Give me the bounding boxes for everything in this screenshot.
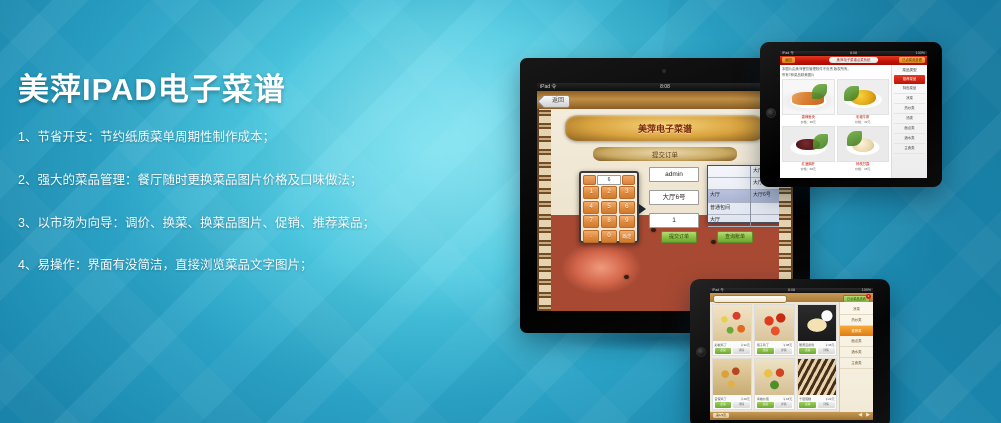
sidebar-item-recommended[interactable]: 推荐菜品 <box>894 75 925 84</box>
keypad-key-dot[interactable]: . <box>583 230 599 243</box>
keypad-key-5[interactable]: 5 <box>601 201 617 214</box>
sidebar-item-pastry[interactable]: 面点类 <box>894 124 925 134</box>
sidebar-item-drinks[interactable]: 酒水类 <box>894 134 925 144</box>
gallery-dish-card[interactable]: 杨枝甘露 价格：28元 <box>837 126 890 171</box>
table-row[interactable] <box>751 203 779 215</box>
back-button[interactable]: 返回 <box>542 95 570 108</box>
app-banner-title: 美萍电子菜谱 <box>565 115 765 141</box>
dish-card[interactable]: 蟹黄豆腐煲 ￥45元 点菜 详情 <box>797 304 837 356</box>
dish-info-button[interactable]: 详情 <box>818 402 835 408</box>
dish-name: 辣子鸡丁 <box>757 343 769 347</box>
dish-card[interactable]: 辣子鸡丁 ￥38元 点菜 详情 <box>754 304 794 356</box>
gallery-dish-card[interactable]: 香辣鱼块 价格：38元 <box>782 79 835 124</box>
keypad-key-4[interactable]: 4 <box>583 201 599 214</box>
sidebar-item-staple[interactable]: 主食类 <box>840 358 873 369</box>
keypad-key-8[interactable]: 8 <box>601 215 617 228</box>
table-row[interactable] <box>708 178 750 190</box>
dish-actions: 点菜 详情 <box>798 402 836 409</box>
sidebar-item-hot[interactable]: 热炒类 <box>840 315 873 326</box>
dish-meta: 辣子鸡丁 ￥38元 <box>755 341 793 348</box>
app-sub-banner-title: 提交订单 <box>593 147 737 161</box>
menu-grid-app: 已点菜品查看 3 彩椒鸡丁 ￥32元 点菜 <box>710 293 873 420</box>
app-banner: 美萍电子菜谱 <box>565 115 765 141</box>
dish-name: 青椒炒蛋 <box>757 397 769 401</box>
dish-name: 宫保鸡丁 <box>715 397 727 401</box>
promo-banner: 美萍IPAD电子菜谱 1、节省开支：节约纸质菜单周期性制作成本； 2、强大的菜品… <box>0 0 1001 423</box>
page-indicator: 第1/3页 <box>713 413 729 418</box>
gallery-body: 本图片由美萍餐饮管理软件不负责 版权所有。 所有7种菜品精美图片 香辣鱼块 价格… <box>780 65 927 178</box>
gallery-notice: 本图片由美萍餐饮管理软件不负责 版权所有。 <box>782 67 889 72</box>
dish-meta: 彩椒鸡丁 ￥32元 <box>713 341 751 348</box>
pagination-controls: ◀ ▶ <box>858 413 870 418</box>
dish-price: 价格：38元 <box>782 120 835 124</box>
sidebar-item-soup[interactable]: 汤类 <box>894 114 925 124</box>
dish-photo <box>782 79 835 115</box>
dish-meta: 青椒炒蛋 ￥18元 <box>755 395 793 402</box>
dish-price: ￥22元 <box>825 397 834 401</box>
keypad-key-3[interactable]: 3 <box>619 186 635 199</box>
grid-tablet-screen: iPad 令 8:08 100% 已点菜品查看 3 <box>710 288 873 420</box>
dish-actions: 点菜 详情 <box>798 348 836 355</box>
main-tablet-screen: iPad 令 8:08 100% 返回 美萍电子菜谱 提交订单 <box>537 83 793 311</box>
dish-info-button[interactable]: 详情 <box>733 348 750 354</box>
dish-price: ￥45元 <box>825 343 834 347</box>
grid-bottom-bar: 第1/3页 ◀ ▶ <box>710 412 873 420</box>
keypad-key-1[interactable]: 1 <box>583 186 599 199</box>
sidebar-title: 菜品类型 <box>894 68 925 73</box>
table-row[interactable] <box>751 215 779 227</box>
order-app: 返回 美萍电子菜谱 提交订单 <box>537 91 793 311</box>
dish-info-button[interactable]: 详情 <box>775 402 792 408</box>
pointer-arrow-icon <box>639 204 646 214</box>
cart-badge: 3 <box>866 294 871 299</box>
dish-name: 千层蛋糕 <box>799 397 811 401</box>
dish-meta: 宫保鸡丁 ￥28元 <box>713 395 751 402</box>
dish-price: ￥18元 <box>783 397 792 401</box>
keypad-key-confirm[interactable]: 确定 <box>619 230 635 243</box>
prev-page-icon[interactable]: ◀ <box>858 413 862 418</box>
dish-photo <box>837 79 890 115</box>
dish-meta: 蟹黄豆腐煲 ￥45元 <box>798 341 836 348</box>
keypad-key-7[interactable]: 7 <box>583 215 599 228</box>
hero-copy: 美萍IPAD电子菜谱 1、节省开支：节约纸质菜单周期性制作成本； 2、强大的菜品… <box>18 64 418 302</box>
table-row[interactable]: 大厅 <box>708 215 750 227</box>
ios-status-bar: iPad 令 8:08 100% <box>537 83 793 91</box>
dish-price: 价格：28元 <box>837 167 890 171</box>
dish-price: ￥38元 <box>783 343 792 347</box>
home-button[interactable] <box>766 108 776 118</box>
feature-item-4: 4、易操作：界面有没简洁，直接浏览菜品文字图片； <box>18 259 418 273</box>
sidebar-item-cold[interactable]: 凉菜 <box>840 304 873 315</box>
dish-actions: 点菜 详情 <box>755 402 793 409</box>
add-dish-button[interactable]: 点菜 <box>799 402 816 408</box>
sidebar-item-hot[interactable]: 热炒类 <box>894 104 925 114</box>
dish-actions: 点菜 详情 <box>713 348 751 355</box>
table-row[interactable]: 普通包间 <box>708 203 750 215</box>
view-cart-button[interactable]: 已点菜品查看 <box>899 57 925 63</box>
table-field[interactable]: 大厅6号 <box>649 190 699 205</box>
dish-photo <box>782 126 835 162</box>
add-dish-button[interactable]: 点菜 <box>757 348 774 354</box>
grid-tablet-device: iPad 令 8:08 100% 已点菜品查看 3 <box>690 279 890 423</box>
keypad-key-0[interactable]: 0 <box>601 230 617 243</box>
grid-body: 彩椒鸡丁 ￥32元 点菜 详情 辣子鸡丁 <box>710 302 873 412</box>
order-form-fields: admin 大厅6号 1 <box>649 167 699 236</box>
gallery-notice-2: 所有7种菜品精美图片 <box>782 73 889 78</box>
page-title: 美萍IPAD电子菜谱 <box>18 64 418 109</box>
dish-grid: 彩椒鸡丁 ￥32元 点菜 详情 辣子鸡丁 <box>710 302 839 412</box>
front-camera-icon <box>662 69 666 73</box>
dish-photo <box>798 305 836 341</box>
sidebar-item-pastry[interactable]: 面点类 <box>840 336 873 347</box>
gallery-title: 美萍电子菜谱点菜系统 <box>829 57 879 63</box>
table-row[interactable]: 大厅6号 <box>751 190 779 202</box>
numeric-keypad[interactable]: 6 1 2 3 4 5 6 7 8 9 <box>579 171 639 243</box>
dish-photo <box>755 305 793 341</box>
view-cart-label: 已点菜品查看 <box>847 297 866 301</box>
dish-actions: 点菜 详情 <box>755 348 793 355</box>
sidebar-item-recommended[interactable]: 推荐菜 <box>840 326 873 336</box>
grid-toolbar: 已点菜品查看 3 <box>710 293 873 302</box>
sidebar-item-staple[interactable]: 主食类 <box>894 144 925 154</box>
keypad-grid: 1 2 3 4 5 6 7 8 9 . 0 确定 <box>583 186 635 243</box>
sidebar-item-drinks[interactable]: 酒水类 <box>840 347 873 358</box>
submit-order-button[interactable]: 提交订单 <box>661 231 697 243</box>
gallery-grid: 香辣鱼块 价格：38元 彩椒牛柳 价格：32元 红酒鹅肝 价格：68元 <box>782 79 889 171</box>
dish-info-button[interactable]: 详情 <box>733 402 750 408</box>
dish-info-button[interactable]: 详情 <box>818 348 835 354</box>
gallery-dish-area: 本图片由美萍餐饮管理软件不负责 版权所有。 所有7种菜品精美图片 香辣鱼块 价格… <box>780 65 891 178</box>
home-button[interactable] <box>696 347 706 357</box>
add-dish-button[interactable]: 点菜 <box>757 402 774 408</box>
people-field[interactable]: 1 <box>649 213 699 228</box>
keypad-key-2[interactable]: 2 <box>601 186 617 199</box>
dish-actions: 点菜 详情 <box>713 402 751 409</box>
gallery-dish-card[interactable]: 红酒鹅肝 价格：68元 <box>782 126 835 171</box>
dish-card[interactable]: 千层蛋糕 ￥22元 点菜 详情 <box>797 358 837 410</box>
gallery-tablet-screen: iPad 令 8:08 100% 返回 美萍电子菜谱点菜系统 已点菜品查看 本图… <box>780 51 927 178</box>
dish-price: 价格：68元 <box>782 167 835 171</box>
feature-item-1: 1、节省开支：节约纸质菜单周期性制作成本； <box>18 131 418 145</box>
table-column-area: 大厅 普通包间 大厅 <box>708 166 751 227</box>
keypad-clear-button[interactable] <box>583 175 596 185</box>
dish-card[interactable]: 彩椒鸡丁 ￥32元 点菜 详情 <box>712 304 752 356</box>
keypad-display-value: 6 <box>597 175 621 185</box>
add-dish-button[interactable]: 点菜 <box>715 402 732 408</box>
feature-item-2: 2、强大的菜品管理：餐厅随时更换菜品图片价格及口味做法； <box>18 174 418 188</box>
gallery-category-sidebar: 菜品类型 推荐菜品 特色菜品 凉菜 热炒类 汤类 面点类 酒水类 主食类 <box>891 65 927 178</box>
keypad-display-row: 6 <box>583 175 635 184</box>
dish-price: ￥32元 <box>740 343 749 347</box>
dish-photo <box>798 359 836 395</box>
add-dish-button[interactable]: 点菜 <box>715 348 732 354</box>
dish-info-button[interactable]: 详情 <box>775 348 792 354</box>
grid-category-sidebar: 凉菜 热炒类 推荐菜 面点类 酒水类 主食类 <box>839 302 873 412</box>
dish-card[interactable]: 宫保鸡丁 ￥28元 点菜 详情 <box>712 358 752 410</box>
user-field[interactable]: admin <box>649 167 699 182</box>
feature-item-3: 3、以市场为向导：调价、换菜、换菜品图片、促销、推荐菜品； <box>18 217 418 231</box>
keypad-backspace-button[interactable] <box>622 175 635 185</box>
order-actions: 提交订单 查询账单 <box>661 231 753 243</box>
back-button[interactable]: 返回 <box>782 57 795 63</box>
dish-photo <box>713 305 751 341</box>
add-dish-button[interactable]: 点菜 <box>799 348 816 354</box>
dish-name: 蟹黄豆腐煲 <box>799 343 814 347</box>
sidebar-item-special[interactable]: 特色菜品 <box>894 84 925 94</box>
sidebar-item-cold[interactable]: 凉菜 <box>894 94 925 104</box>
keypad-key-9[interactable]: 9 <box>619 215 635 228</box>
gallery-tablet-device: iPad 令 8:08 100% 返回 美萍电子菜谱点菜系统 已点菜品查看 本图… <box>760 42 942 187</box>
app-sub-banner: 提交订单 <box>593 147 737 161</box>
query-bill-button[interactable]: 查询账单 <box>717 231 753 243</box>
app-top-bar: 返回 <box>537 91 793 109</box>
dish-photo <box>755 359 793 395</box>
dish-name: 彩椒鸡丁 <box>715 343 727 347</box>
dish-price: ￥28元 <box>740 397 749 401</box>
dish-price: 价格：32元 <box>837 120 890 124</box>
gallery-dish-card[interactable]: 彩椒牛柳 价格：32元 <box>837 79 890 124</box>
status-clock: 8:08 <box>537 83 793 91</box>
table-row[interactable]: 大厅 <box>708 190 750 202</box>
dish-meta: 千层蛋糕 ￥22元 <box>798 395 836 402</box>
dish-photo <box>837 126 890 162</box>
dish-card[interactable]: 青椒炒蛋 ￥18元 点菜 详情 <box>754 358 794 410</box>
keypad-key-6[interactable]: 6 <box>619 201 635 214</box>
next-page-icon[interactable]: ▶ <box>866 413 870 418</box>
gallery-toolbar: 返回 美萍电子菜谱点菜系统 已点菜品查看 <box>780 56 927 65</box>
table-row[interactable] <box>708 166 750 178</box>
feature-list: 1、节省开支：节约纸质菜单周期性制作成本； 2、强大的菜品管理：餐厅随时更换菜品… <box>18 131 418 273</box>
dish-photo <box>713 359 751 395</box>
